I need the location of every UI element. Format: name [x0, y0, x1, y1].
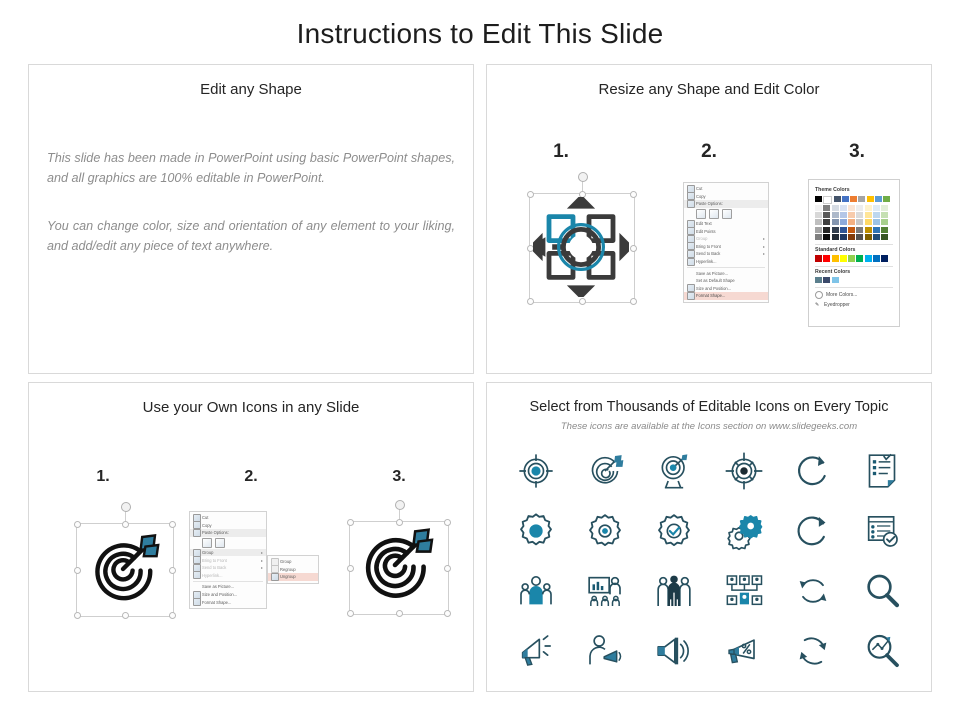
edit-shape-paragraph-2: You can change color, size and orientati…	[47, 217, 455, 256]
icon-context-menu[interactable]: Cut Copy Paste Options: Group▸ Bring to …	[189, 511, 267, 609]
submenu-item-ungroup[interactable]: Ungroup	[268, 573, 318, 581]
menu-item-save-as-picture[interactable]: Save as Picture...	[190, 583, 266, 591]
palette-icon	[815, 291, 823, 299]
menu-item-cut[interactable]: Cut	[190, 514, 266, 522]
icon-library-grid	[501, 441, 917, 681]
rotate-arrows-icon[interactable]	[793, 631, 833, 671]
recent-colors-row[interactable]	[815, 277, 893, 283]
paste-picture-icon[interactable]	[215, 538, 225, 548]
magnifier-chart-icon[interactable]	[862, 631, 902, 671]
step-number-1: 1.	[487, 141, 635, 163]
chevron-right-icon: ▸	[763, 244, 765, 249]
panel-resize-shape: Resize any Shape and Edit Color 1. 2. 3.	[486, 64, 932, 374]
eyedropper-label: Eyedropper	[824, 302, 850, 308]
theme-tint-row[interactable]	[815, 227, 893, 233]
menu-item-format-shape[interactable]: Format Shape...	[190, 598, 266, 606]
paste-option-buttons[interactable]	[684, 208, 768, 220]
panel-title-own-icons: Use your Own Icons in any Slide	[29, 399, 473, 416]
megaphone-percent-icon[interactable]	[724, 631, 764, 671]
menu-label: Edit Text	[696, 221, 712, 226]
chevron-right-icon: ▸	[261, 550, 263, 555]
chevron-right-icon: ▸	[763, 251, 765, 256]
menu-label: Edit Points	[696, 229, 716, 234]
chevron-right-icon: ▸	[763, 236, 765, 241]
menu-item-size-and-position[interactable]: Size and Position...	[684, 285, 768, 293]
panel-title-resize-shape: Resize any Shape and Edit Color	[487, 81, 931, 98]
paste-keep-formatting-icon[interactable]	[696, 209, 706, 219]
target-stand-icon[interactable]	[654, 451, 694, 491]
paste-text-icon[interactable]	[722, 209, 732, 219]
menu-label: Hyperlink...	[696, 259, 716, 264]
shape-context-menu[interactable]: Cut Copy Paste Options: Edit Text Edit P…	[683, 182, 769, 303]
bring-front-icon	[193, 556, 201, 564]
panel-icon-library: Select from Thousands of Editable Icons …	[486, 382, 932, 692]
menu-label: Cut	[696, 186, 702, 191]
crosshair-scope-icon[interactable]	[724, 451, 764, 491]
own-icons-step-3: 3.	[325, 468, 473, 486]
picker-divider	[815, 287, 893, 288]
paste-icon	[193, 529, 201, 537]
menu-item-group: Group▸	[684, 235, 768, 243]
menu-label: Size and Position...	[696, 286, 731, 291]
resize-step1-shape-group[interactable]	[523, 185, 641, 310]
menu-item-copy[interactable]: Copy	[190, 522, 266, 530]
people-leader-icon[interactable]	[516, 571, 556, 611]
theme-tint-row[interactable]	[815, 234, 893, 240]
step-number-3: 3.	[783, 141, 931, 163]
edit-shape-paragraph-1: This slide has been made in PowerPoint u…	[47, 149, 455, 188]
gear-filled-icon[interactable]	[516, 511, 556, 551]
menu-label: Send to Back	[696, 251, 720, 256]
theme-base-row[interactable]	[815, 196, 893, 204]
menu-item-send-to-back[interactable]: Send to Back▸	[684, 250, 768, 258]
group-submenu[interactable]: Group Regroup Ungroup	[267, 555, 319, 584]
paste-icon	[687, 200, 695, 208]
standard-colors-label: Standard Colors	[815, 247, 893, 253]
chevron-right-icon: ▸	[261, 558, 263, 563]
edit-points-icon	[687, 227, 695, 235]
slide-canvas: Instructions to Edit This Slide Edit any…	[0, 0, 960, 720]
format-shape-icon	[687, 292, 695, 300]
theme-tint-row[interactable]	[815, 219, 893, 225]
menu-label: Group	[696, 236, 707, 241]
submenu-label: Ungroup	[280, 574, 296, 579]
menu-item-paste-options[interactable]: Paste Options:	[684, 200, 768, 208]
more-colors-button[interactable]: More Colors...	[815, 291, 893, 299]
submenu-label: Regroup	[280, 567, 296, 572]
menu-divider	[687, 267, 765, 268]
menu-label: Paste Options:	[696, 201, 723, 206]
menu-divider	[193, 581, 263, 582]
menu-label: Save as Picture...	[202, 584, 234, 589]
menu-label: Hyperlink...	[202, 573, 222, 578]
menu-item-hyperlink: Hyperlink...	[190, 572, 266, 580]
panel-edit-any-shape: Edit any Shape This slide has been made …	[28, 64, 474, 374]
menu-label: Cut	[202, 515, 208, 520]
hyperlink-icon	[193, 571, 201, 579]
dartboard-selection-2[interactable]	[343, 511, 455, 623]
menu-label: Format Shape...	[202, 600, 231, 605]
rotate-handle[interactable]	[578, 172, 588, 182]
rotate-handle[interactable]	[395, 500, 405, 510]
loudspeaker-icon[interactable]	[654, 631, 694, 671]
step-number-2: 2.	[635, 141, 783, 163]
megaphone-icon[interactable]	[516, 631, 556, 671]
send-back-icon	[687, 250, 695, 258]
paste-picture-icon[interactable]	[709, 209, 719, 219]
person-megaphone-icon[interactable]	[585, 631, 625, 671]
gear-check-icon[interactable]	[654, 511, 694, 551]
picker-divider	[815, 266, 893, 267]
panel-subtitle-icon-library: These icons are available at the Icons s…	[487, 421, 931, 432]
menu-label: Copy	[696, 194, 706, 199]
document-check-icon[interactable]	[862, 511, 902, 551]
recent-colors-label: Recent Colors	[815, 269, 893, 275]
circular-arrow-icon[interactable]	[793, 511, 833, 551]
menu-label: Format Shape...	[696, 293, 725, 298]
gear-center-icon[interactable]	[585, 511, 625, 551]
checklist-document-icon[interactable]	[862, 451, 902, 491]
menu-item-paste-options[interactable]: Paste Options:	[190, 529, 266, 537]
org-chart-icon[interactable]	[724, 571, 764, 611]
menu-label: Set as Default Shape	[696, 278, 735, 283]
presentation-training-icon[interactable]	[585, 571, 625, 611]
double-gear-icon[interactable]	[724, 511, 764, 551]
theme-tint-row[interactable]	[815, 212, 893, 218]
menu-label: Send to Back	[202, 565, 226, 570]
menu-item-save-as-picture[interactable]: Save as Picture...	[684, 269, 768, 277]
eyedropper-button[interactable]: ✎Eyedropper	[815, 302, 893, 308]
refresh-arrow-icon[interactable]	[793, 451, 833, 491]
more-colors-label: More Colors...	[826, 292, 857, 298]
theme-tint-row[interactable]	[815, 205, 893, 211]
team-group-icon[interactable]	[654, 571, 694, 611]
rotate-handle[interactable]	[121, 502, 131, 512]
menu-item-bring-to-front: Bring to Front▸	[190, 556, 266, 564]
four-quadrant-arrows-shape-icon	[533, 197, 629, 297]
menu-label: Bring to Front	[202, 558, 227, 563]
menu-label: Save as Picture...	[696, 271, 728, 276]
menu-label: Group	[202, 550, 213, 555]
target-crosshair-icon[interactable]	[516, 451, 556, 491]
paste-keep-formatting-icon[interactable]	[202, 538, 212, 548]
menu-label: Copy	[202, 523, 212, 528]
panel-title-edit-shape: Edit any Shape	[29, 81, 473, 98]
dartboard-selection-1[interactable]	[71, 515, 181, 625]
menu-item-size-and-position[interactable]: Size and Position...	[190, 591, 266, 599]
hyperlink-icon	[687, 258, 695, 266]
menu-item-edit-points[interactable]: Edit Points	[684, 227, 768, 235]
picker-divider	[815, 244, 893, 245]
menu-item-bring-to-front[interactable]: Bring to Front▸	[684, 243, 768, 251]
menu-item-group[interactable]: Group▸	[190, 549, 266, 557]
own-icons-step-1: 1.	[29, 468, 177, 486]
sync-arrows-icon[interactable]	[793, 571, 833, 611]
menu-label: Paste Options:	[202, 530, 229, 535]
chevron-right-icon: ▸	[261, 565, 263, 570]
own-icons-step-2: 2.	[177, 468, 325, 486]
submenu-label: Group	[280, 559, 291, 564]
menu-item-hyperlink[interactable]: Hyperlink...	[684, 258, 768, 266]
menu-item-edit-text[interactable]: Edit Text	[684, 220, 768, 228]
menu-label: Bring to Front	[696, 244, 721, 249]
menu-item-format-shape[interactable]: Format Shape...	[684, 292, 768, 300]
theme-colors-label: Theme Colors	[815, 187, 893, 193]
magnifier-icon[interactable]	[862, 571, 902, 611]
panel-title-icon-library: Select from Thousands of Editable Icons …	[487, 399, 931, 415]
ungroup-icon	[271, 573, 279, 581]
dartboard-arrow-icon[interactable]	[585, 451, 625, 491]
page-title: Instructions to Edit This Slide	[0, 18, 960, 50]
menu-item-copy[interactable]: Copy	[684, 193, 768, 201]
menu-label: Size and Position...	[202, 592, 237, 597]
dartboard-arrow-icon	[83, 529, 163, 609]
menu-item-send-to-back: Send to Back▸	[190, 564, 266, 572]
standard-colors-row[interactable]	[815, 255, 893, 262]
dartboard-arrow-icon	[353, 523, 437, 607]
menu-item-cut[interactable]: Cut	[684, 185, 768, 193]
panel-own-icons: Use your Own Icons in any Slide 1. 2. 3.	[28, 382, 474, 692]
format-shape-icon	[193, 598, 201, 606]
paste-option-buttons[interactable]	[190, 537, 266, 549]
eyedropper-icon: ✎	[815, 302, 821, 308]
menu-item-set-default-shape[interactable]: Set as Default Shape	[684, 277, 768, 285]
color-picker-panel[interactable]: Theme Colors Standard Colors Recent Colo…	[808, 179, 900, 327]
